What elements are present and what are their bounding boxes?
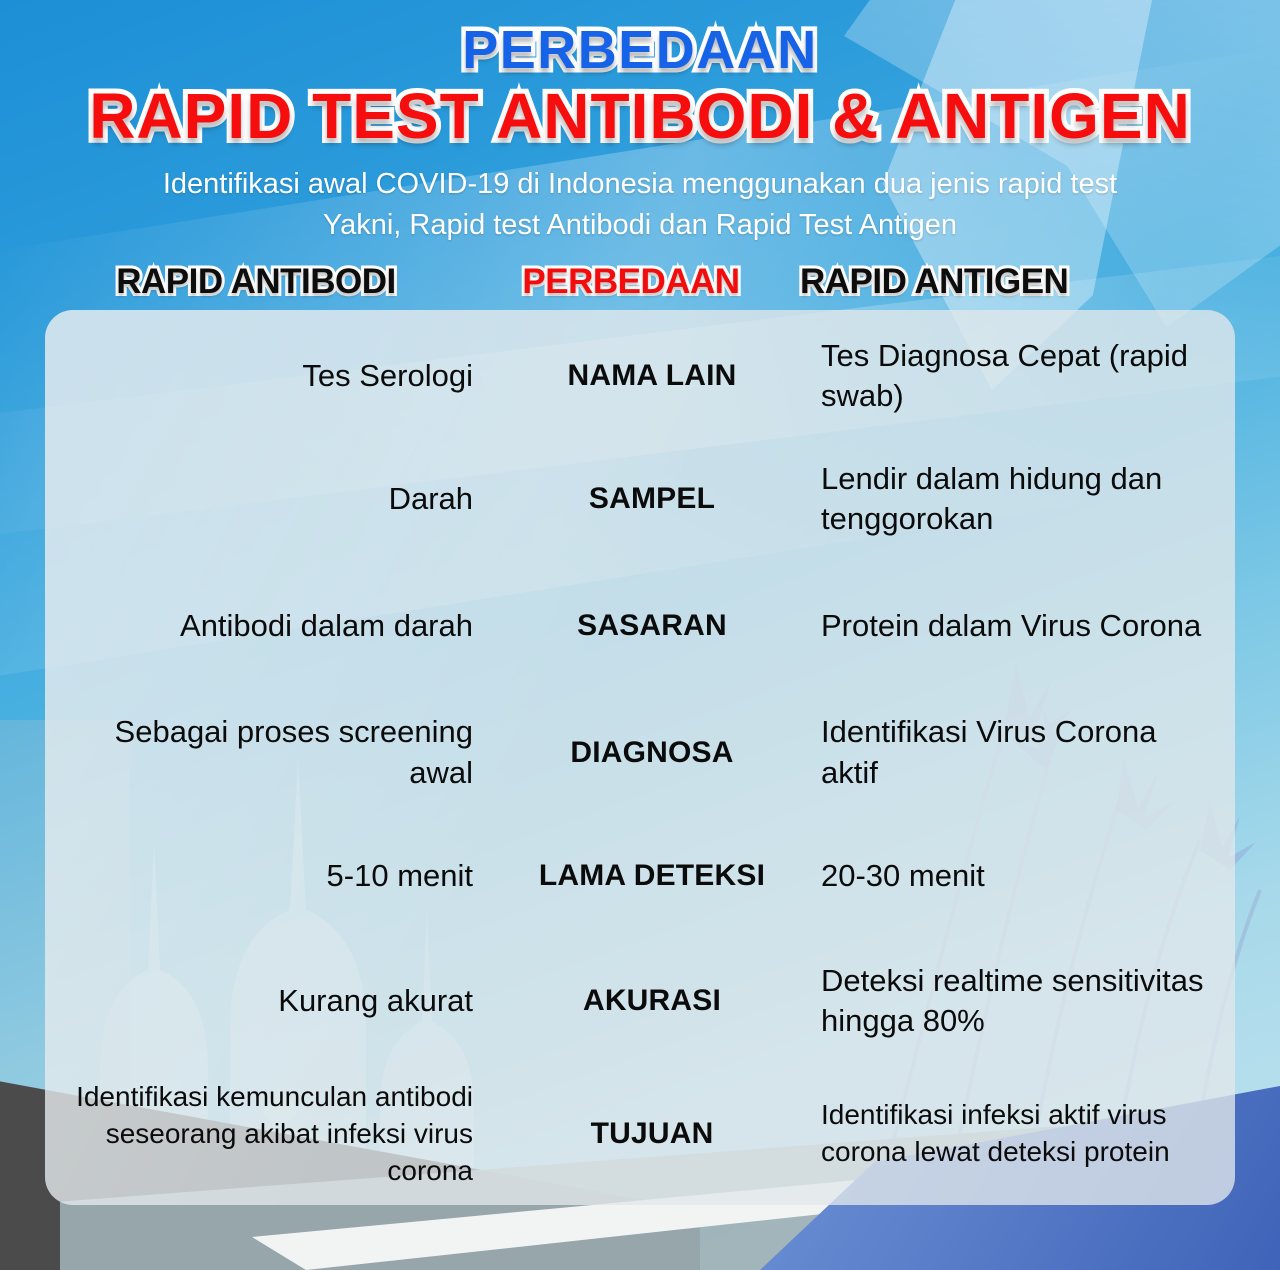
table-row: Sebagai proses screening awal DIAGNOSA I… <box>45 689 1235 816</box>
column-headers: RAPID ANTIBODI PERBEDAAN RAPID ANTIGEN <box>0 262 1280 302</box>
poster-header: PERBEDAAN RAPID TEST ANTIBODI & ANTIGEN … <box>0 0 1280 246</box>
cell-antigen: Deteksi realtime sensitivitas hingga 80% <box>817 961 1213 1042</box>
table-row: Kurang akurat AKURASI Deteksi realtime s… <box>45 936 1235 1068</box>
cell-criterion: NAMA LAIN <box>487 359 817 393</box>
table-row: Tes Serologi NAMA LAIN Tes Diagnosa Cepa… <box>45 316 1235 436</box>
cell-antibodi: Kurang akurat <box>67 981 487 1021</box>
column-header-antibodi: RAPID ANTIBODI <box>46 262 466 302</box>
cell-antigen: Identifikasi Virus Corona aktif <box>817 712 1213 793</box>
cell-antigen: Lendir dalam hidung dan tenggorokan <box>817 459 1213 540</box>
infographic-poster: PERBEDAAN RAPID TEST ANTIBODI & ANTIGEN … <box>0 0 1280 1270</box>
table-row: Identifikasi kemunculan antibodi seseora… <box>45 1067 1235 1201</box>
table-row: Darah SAMPEL Lendir dalam hidung dan ten… <box>45 436 1235 563</box>
cell-antigen: 20-30 menit <box>817 856 1213 896</box>
cell-antigen: Identifikasi infeksi aktif virus corona … <box>817 1097 1213 1171</box>
cell-criterion: SAMPEL <box>487 482 817 516</box>
cell-antigen: Protein dalam Virus Corona <box>817 606 1213 646</box>
cell-antibodi: Sebagai proses screening awal <box>67 712 487 793</box>
title-top: PERBEDAAN <box>0 22 1280 79</box>
cell-antibodi: Identifikasi kemunculan antibodi seseora… <box>67 1079 487 1190</box>
cell-antibodi: Antibodi dalam darah <box>67 606 487 646</box>
column-header-perbedaan: PERBEDAAN <box>466 262 796 302</box>
cell-antibodi: Darah <box>67 479 487 519</box>
cell-criterion: DIAGNOSA <box>487 736 817 770</box>
column-header-antigen: RAPID ANTIGEN <box>796 262 1234 302</box>
cell-criterion: LAMA DETEKSI <box>487 859 817 893</box>
cell-criterion: SASARAN <box>487 609 817 643</box>
cell-antigen: Tes Diagnosa Cepat (rapid swab) <box>817 336 1213 417</box>
cell-criterion: AKURASI <box>487 984 817 1018</box>
cell-antibodi: Tes Serologi <box>67 356 487 396</box>
table-row: Antibodi dalam darah SASARAN Protein dal… <box>45 563 1235 690</box>
cell-antibodi: 5-10 menit <box>67 856 487 896</box>
table-row: 5-10 menit LAMA DETEKSI 20-30 menit <box>45 816 1235 936</box>
subtitle-line2: Yakni, Rapid test Antibodi dan Rapid Tes… <box>0 205 1280 246</box>
cell-criterion: TUJUAN <box>487 1117 817 1151</box>
subtitle-line1: Identifikasi awal COVID-19 di Indonesia … <box>0 164 1280 205</box>
title-main: RAPID TEST ANTIBODI & ANTIGEN <box>0 83 1280 150</box>
comparison-table-card: Tes Serologi NAMA LAIN Tes Diagnosa Cepa… <box>45 310 1235 1205</box>
